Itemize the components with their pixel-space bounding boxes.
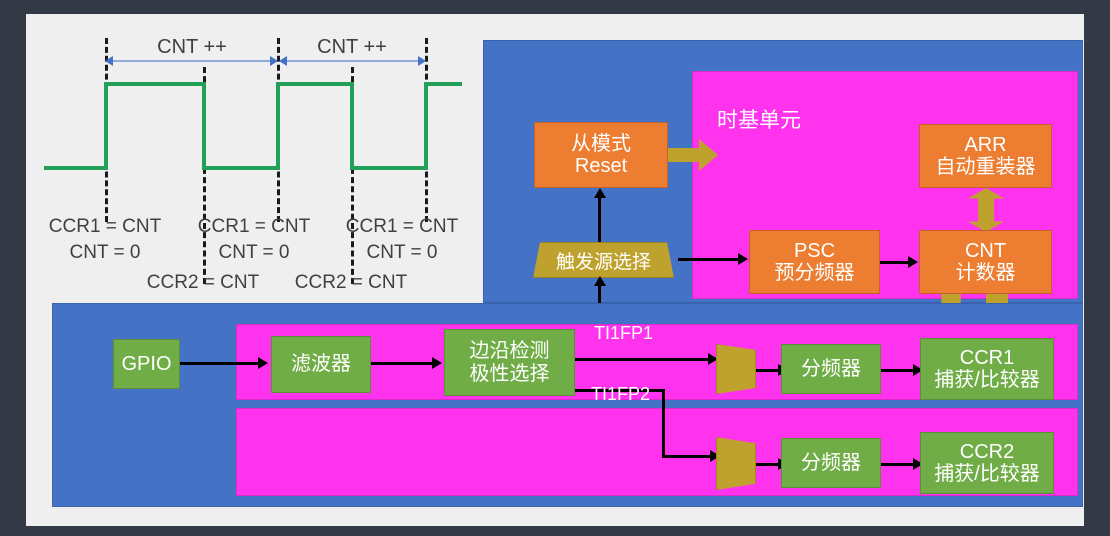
psc-line2: 预分频器 bbox=[775, 262, 855, 284]
block-psc: PSC 预分频器 bbox=[749, 230, 880, 294]
cnt-interval-arrow-left-1 bbox=[105, 56, 113, 66]
line-gpio-to-filter bbox=[180, 362, 262, 365]
waveform-segment-rise bbox=[276, 82, 280, 170]
waveform-ccr2-label: CCR2 = CNT bbox=[281, 272, 421, 294]
block-gpio: GPIO bbox=[113, 339, 180, 389]
trigger-select-label: 触发源选择 bbox=[556, 247, 651, 274]
block-slave-mode-reset: 从模式 Reset bbox=[534, 122, 668, 188]
event-label-line1: CCR1 = CNT bbox=[35, 214, 175, 240]
cnt-interval-line-1 bbox=[112, 60, 272, 62]
waveform-ccr2-label: CCR2 = CNT bbox=[133, 272, 273, 294]
waveform-segment-fall bbox=[202, 82, 206, 170]
ccr1-line2: 捕获/比较器 bbox=[934, 369, 1040, 391]
block-trigger-source-select: 触发源选择 bbox=[533, 242, 674, 278]
waveform-segment-high bbox=[276, 82, 354, 86]
slave-mode-line1: 从模式 bbox=[571, 133, 631, 155]
label-ti1fp1: TI1FP1 bbox=[594, 323, 653, 344]
arrowhead-psc-to-cnt bbox=[908, 256, 918, 268]
cnt-interval-label-1: CNT ++ bbox=[142, 36, 242, 59]
waveform-panel: CNT ++ CNT ++ CCR1 = CNT CNT = 0 C bbox=[26, 14, 480, 300]
mux-channel-2 bbox=[716, 437, 756, 490]
line-ti1fp2-to-mux2 bbox=[662, 455, 717, 458]
waveform-segment-high bbox=[424, 82, 462, 86]
ccr2-line2: 捕获/比较器 bbox=[934, 463, 1040, 485]
block-cnt: CNT 计数器 bbox=[919, 230, 1052, 294]
block-arr: ARR 自动重装器 bbox=[919, 124, 1052, 188]
screenshot-root: 时基单元 从模式 Reset 触发源选择 ARR 自动重装器 PSC bbox=[0, 0, 1110, 536]
mux-channel-1 bbox=[716, 344, 756, 394]
arrowhead-trigger-to-slavemode bbox=[594, 188, 606, 198]
diagram-canvas: 时基单元 从模式 Reset 触发源选择 ARR 自动重装器 PSC bbox=[26, 14, 1084, 526]
block-divider-2: 分频器 bbox=[781, 438, 881, 488]
waveform-segment-fall bbox=[350, 82, 354, 170]
block-edge-detect-polarity: 边沿检测 极性选择 bbox=[444, 329, 575, 396]
arr-line2: 自动重装器 bbox=[936, 156, 1036, 178]
cnt-interval-line-2 bbox=[286, 60, 420, 62]
arr-line1: ARR bbox=[964, 134, 1006, 156]
waveform-segment-high bbox=[104, 82, 205, 86]
block-filter: 滤波器 bbox=[271, 336, 371, 393]
ccr2-line1: CCR2 bbox=[960, 441, 1014, 463]
waveform-segment-rise bbox=[104, 82, 108, 170]
edge-detect-line1: 边沿检测 bbox=[470, 340, 550, 362]
cnt-interval-label-2: CNT ++ bbox=[302, 36, 402, 59]
divider1-label: 分频器 bbox=[801, 358, 861, 380]
line-trigger-to-slavemode bbox=[598, 196, 601, 242]
event-label-line2: CNT = 0 bbox=[332, 240, 472, 266]
line-ti1fp2-down bbox=[662, 389, 665, 457]
waveform-event-label: CCR1 = CNT CNT = 0 bbox=[184, 214, 324, 265]
cnt-interval-arrow-right-2 bbox=[418, 56, 426, 66]
divider2-label: 分频器 bbox=[801, 452, 861, 474]
ccr1-line1: CCR1 bbox=[960, 347, 1014, 369]
edge-detect-line2: 极性选择 bbox=[470, 363, 550, 385]
line-filter-to-edgedetect bbox=[371, 362, 436, 365]
waveform-event-label: CCR1 = CNT CNT = 0 bbox=[35, 214, 175, 265]
line-edgedetect-to-ti1fp1 bbox=[575, 358, 715, 361]
arrowhead-trigger-to-psc bbox=[738, 253, 748, 265]
block-ccr2: CCR2 捕获/比较器 bbox=[920, 432, 1054, 494]
filter-label: 滤波器 bbox=[291, 353, 351, 375]
cnt-interval-arrow-left-2 bbox=[279, 56, 287, 66]
event-label-line1: CCR1 = CNT bbox=[332, 214, 472, 240]
gpio-label: GPIO bbox=[121, 353, 171, 375]
event-label-line2: CNT = 0 bbox=[35, 240, 175, 266]
cnt-line2: 计数器 bbox=[956, 262, 1016, 284]
arrowhead-ti1fp1-to-trigger bbox=[594, 276, 606, 286]
psc-line1: PSC bbox=[794, 240, 835, 262]
waveform-segment-low bbox=[350, 166, 428, 170]
line-trigger-to-psc bbox=[678, 258, 742, 261]
waveform-segment-rise bbox=[424, 82, 428, 170]
label-ti1fp2: TI1FP2 bbox=[591, 384, 650, 405]
event-label-line1: CCR1 = CNT bbox=[184, 214, 324, 240]
block-divider-1: 分频器 bbox=[781, 344, 881, 394]
cnt-interval-arrow-right-1 bbox=[270, 56, 278, 66]
time-base-unit-title: 时基单元 bbox=[717, 104, 801, 134]
arrowhead-gpio-to-filter bbox=[258, 357, 268, 369]
slave-mode-line2: Reset bbox=[575, 155, 627, 177]
waveform-event-label: CCR1 = CNT CNT = 0 bbox=[332, 214, 472, 265]
event-label-line2: CNT = 0 bbox=[184, 240, 324, 266]
waveform-segment-low bbox=[202, 166, 280, 170]
block-ccr1: CCR1 捕获/比较器 bbox=[920, 338, 1054, 400]
arrowhead-filter-to-edgedetect bbox=[432, 357, 442, 369]
cnt-line1: CNT bbox=[965, 240, 1006, 262]
waveform-segment-low bbox=[44, 166, 106, 170]
